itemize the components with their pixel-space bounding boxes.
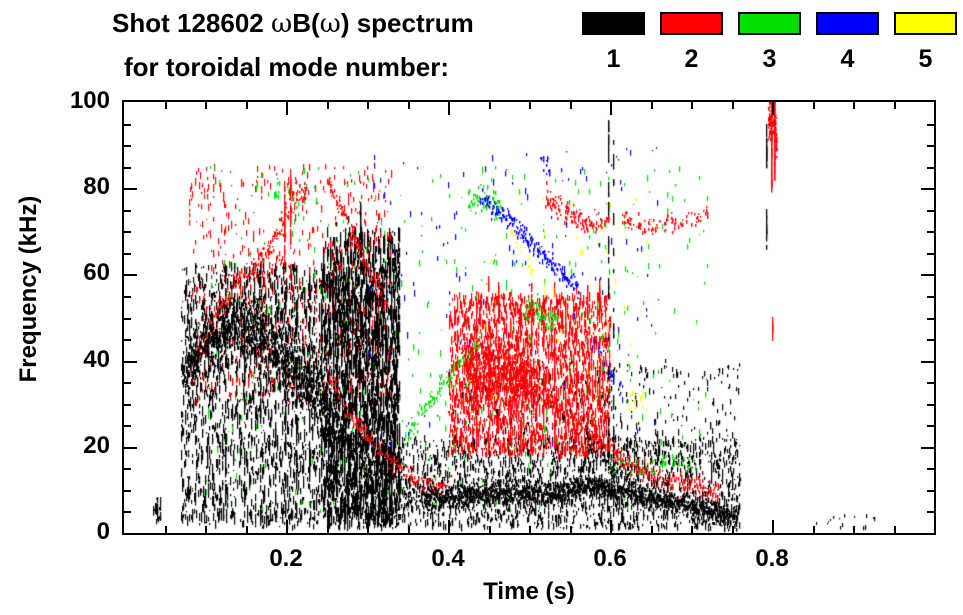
legend-label-2: 2 bbox=[660, 47, 723, 72]
x-tick-label-0.8: 0.8 bbox=[732, 547, 812, 571]
y-tick-left bbox=[124, 447, 137, 449]
x-tick-bottom bbox=[205, 526, 207, 533]
y-tick-right bbox=[927, 425, 934, 427]
legend-swatch-1 bbox=[582, 12, 645, 35]
x-tick-top bbox=[286, 102, 288, 115]
y-tick-left bbox=[124, 382, 131, 384]
y-tick-right bbox=[927, 210, 934, 212]
title-mid: B( bbox=[292, 8, 319, 38]
y-tick-left bbox=[124, 253, 131, 255]
x-tick-bottom bbox=[165, 526, 167, 533]
x-tick-top bbox=[327, 102, 329, 109]
y-tick-left bbox=[124, 231, 131, 233]
spectrogram-figure: Shot 128602 ωB(ω) spectrum for toroidal … bbox=[0, 0, 963, 615]
x-tick-bottom bbox=[691, 526, 693, 533]
y-tick-label-20: 20 bbox=[40, 434, 110, 458]
x-tick-bottom bbox=[408, 526, 410, 533]
figure-title-line-2: for toroidal mode number: bbox=[124, 52, 449, 83]
x-tick-label-0.6: 0.6 bbox=[570, 547, 650, 571]
y-tick-left bbox=[124, 274, 137, 276]
x-tick-top bbox=[894, 102, 896, 109]
y-tick-right bbox=[927, 468, 934, 470]
x-tick-bottom bbox=[529, 526, 531, 533]
x-tick-bottom bbox=[367, 526, 369, 533]
y-tick-right bbox=[927, 318, 934, 320]
y-tick-label-0: 0 bbox=[40, 520, 110, 544]
y-tick-left bbox=[124, 468, 131, 470]
x-axis-label-text: Time (s) bbox=[483, 578, 575, 605]
y-tick-left bbox=[124, 210, 131, 212]
y-tick-label-40: 40 bbox=[40, 348, 110, 372]
x-tick-top bbox=[246, 102, 248, 109]
x-tick-top bbox=[205, 102, 207, 109]
legend-item-1[interactable]: 1 bbox=[582, 12, 645, 72]
x-tick-bottom bbox=[651, 526, 653, 533]
x-tick-bottom bbox=[894, 526, 896, 533]
x-tick-top bbox=[772, 102, 774, 115]
plot-area bbox=[122, 100, 936, 535]
y-tick-right bbox=[927, 145, 934, 147]
x-tick-top bbox=[448, 102, 450, 115]
y-tick-right bbox=[927, 124, 934, 126]
x-tick-label-0.4: 0.4 bbox=[408, 547, 488, 571]
x-tick-top bbox=[529, 102, 531, 109]
y-tick-left bbox=[124, 361, 137, 363]
legend-swatch-2 bbox=[660, 12, 723, 35]
y-axis-label: Frequency (kHz) bbox=[15, 164, 43, 414]
x-tick-top bbox=[853, 102, 855, 109]
y-tick-right bbox=[921, 188, 934, 190]
x-tick-bottom bbox=[327, 526, 329, 533]
y-tick-right bbox=[927, 253, 934, 255]
y-tick-left bbox=[124, 425, 131, 427]
x-tick-top bbox=[367, 102, 369, 109]
legend-label-1: 1 bbox=[582, 47, 645, 72]
x-tick-bottom bbox=[732, 526, 734, 533]
y-tick-right bbox=[927, 382, 934, 384]
figure-title-line-1: Shot 128602 ωB(ω) spectrum bbox=[112, 8, 474, 39]
y-tick-label-80: 80 bbox=[40, 175, 110, 199]
legend-swatch-5 bbox=[894, 12, 957, 35]
x-tick-bottom bbox=[610, 520, 612, 533]
x-tick-bottom bbox=[570, 526, 572, 533]
y-tick-left bbox=[124, 167, 131, 169]
y-tick-left bbox=[124, 404, 131, 406]
x-axis-label: Time (s) bbox=[0, 578, 963, 606]
y-tick-left bbox=[124, 296, 131, 298]
x-tick-bottom bbox=[853, 526, 855, 533]
legend-swatch-4 bbox=[816, 12, 879, 35]
x-tick-top bbox=[732, 102, 734, 109]
y-tick-left bbox=[124, 511, 131, 513]
x-tick-bottom bbox=[489, 526, 491, 533]
y-tick-left bbox=[124, 188, 137, 190]
y-tick-left bbox=[124, 145, 131, 147]
y-tick-left bbox=[124, 124, 131, 126]
legend-label-5: 5 bbox=[894, 47, 957, 72]
y-tick-right bbox=[921, 447, 934, 449]
x-tick-top bbox=[691, 102, 693, 109]
legend: 12345 bbox=[582, 12, 954, 90]
title-suffix: ) spectrum bbox=[341, 8, 474, 38]
x-tick-top bbox=[610, 102, 612, 115]
y-tick-left bbox=[124, 318, 131, 320]
title-prefix: Shot 128602 bbox=[112, 8, 271, 38]
x-tick-bottom bbox=[448, 520, 450, 533]
y-tick-label-60: 60 bbox=[40, 261, 110, 285]
y-tick-right bbox=[927, 339, 934, 341]
x-tick-top bbox=[813, 102, 815, 109]
legend-item-5[interactable]: 5 bbox=[894, 12, 957, 72]
x-tick-top bbox=[489, 102, 491, 109]
y-tick-right bbox=[921, 361, 934, 363]
y-tick-left bbox=[124, 339, 131, 341]
omega-symbol-1: ω bbox=[271, 9, 292, 39]
x-tick-top bbox=[165, 102, 167, 109]
y-tick-left bbox=[124, 490, 131, 492]
legend-label-3: 3 bbox=[738, 47, 801, 72]
x-tick-top bbox=[570, 102, 572, 109]
legend-label-4: 4 bbox=[816, 47, 879, 72]
legend-item-2[interactable]: 2 bbox=[660, 12, 723, 72]
x-tick-top bbox=[651, 102, 653, 109]
y-tick-right bbox=[927, 511, 934, 513]
y-tick-right bbox=[927, 296, 934, 298]
legend-swatch-3 bbox=[738, 12, 801, 35]
legend-item-4[interactable]: 4 bbox=[816, 12, 879, 72]
y-tick-label-100: 100 bbox=[40, 89, 110, 113]
legend-item-3[interactable]: 3 bbox=[738, 12, 801, 72]
y-tick-right bbox=[921, 274, 934, 276]
x-tick-bottom bbox=[813, 526, 815, 533]
x-tick-bottom bbox=[286, 520, 288, 533]
x-tick-label-0.2: 0.2 bbox=[246, 547, 326, 571]
y-tick-right bbox=[927, 231, 934, 233]
omega-symbol-2: ω bbox=[320, 9, 341, 39]
x-tick-top bbox=[408, 102, 410, 109]
x-tick-bottom bbox=[246, 526, 248, 533]
spectrogram-canvas bbox=[124, 102, 934, 533]
y-tick-right bbox=[927, 490, 934, 492]
y-tick-right bbox=[927, 167, 934, 169]
y-tick-right bbox=[927, 404, 934, 406]
x-tick-bottom bbox=[772, 520, 774, 533]
